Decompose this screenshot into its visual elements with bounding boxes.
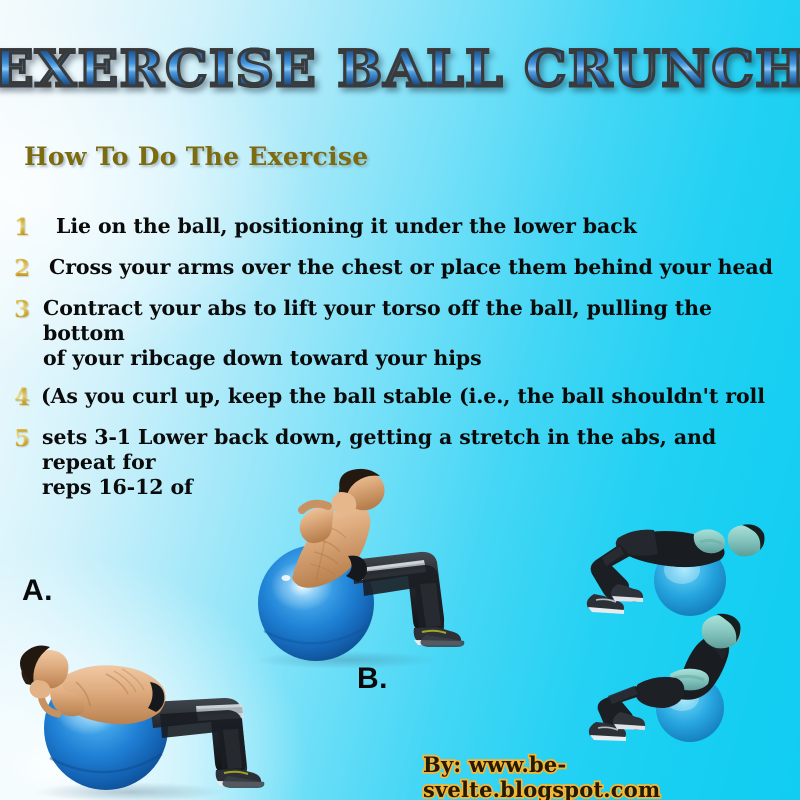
poster-title-container: EXERCISE BALL CRUNCH <box>0 44 800 94</box>
step-text: Cross your arms over the chest or place … <box>40 255 786 280</box>
step-text: Lie on the ball, positioning it under th… <box>40 214 786 239</box>
figure-inset-crunch-photo <box>578 612 800 744</box>
step-text-line: of your ribcage down toward your hips <box>43 346 786 371</box>
step-text: sets 3-1 Lower back down, getting a stre… <box>40 425 786 500</box>
step-text-line: (As you curl up, keep the ball stable (i… <box>41 384 786 409</box>
poster-title: EXERCISE BALL CRUNCH <box>0 44 800 94</box>
step-text: Contract your abs to lift your torso off… <box>40 296 786 371</box>
step-text-line: Contract your abs to lift your torso off… <box>43 296 786 346</box>
step-number: 5 <box>14 425 40 453</box>
instruction-step: 2 Cross your arms over the chest or plac… <box>14 255 786 283</box>
step-text-line: Cross your arms over the chest or place … <box>49 255 786 280</box>
exercise-poster: EXERCISE BALL CRUNCH How To Do The Exerc… <box>0 0 800 800</box>
step-text-line: Lie on the ball, positioning it under th… <box>56 214 786 239</box>
instruction-step: 1 Lie on the ball, positioning it under … <box>14 214 786 242</box>
credit-attribution: By: www.be-svelte.blogspot.com <box>423 752 800 800</box>
step-number: 3 <box>14 296 40 324</box>
panel-label-b: B. <box>357 662 388 696</box>
step-number: 2 <box>14 255 40 283</box>
instruction-step-list: 1 Lie on the ball, positioning it under … <box>14 214 786 513</box>
step-text: (As you curl up, keep the ball stable (i… <box>40 384 786 409</box>
instruction-step: 3 Contract your abs to lift your torso o… <box>14 296 786 371</box>
section-subheading: How To Do The Exercise <box>24 142 368 171</box>
step-text-line: sets 3-1 Lower back down, getting a stre… <box>42 425 786 475</box>
step-number: 1 <box>14 214 40 242</box>
figure-inset-lying-photo <box>578 498 800 620</box>
step-number: 4 <box>14 384 40 412</box>
instruction-step: 4 (As you curl up, keep the ball stable … <box>14 384 786 412</box>
panel-label-a: A. <box>22 574 53 608</box>
instruction-step: 5 sets 3-1 Lower back down, getting a st… <box>14 425 786 500</box>
step-text-line: reps 16-12 of <box>42 475 786 500</box>
